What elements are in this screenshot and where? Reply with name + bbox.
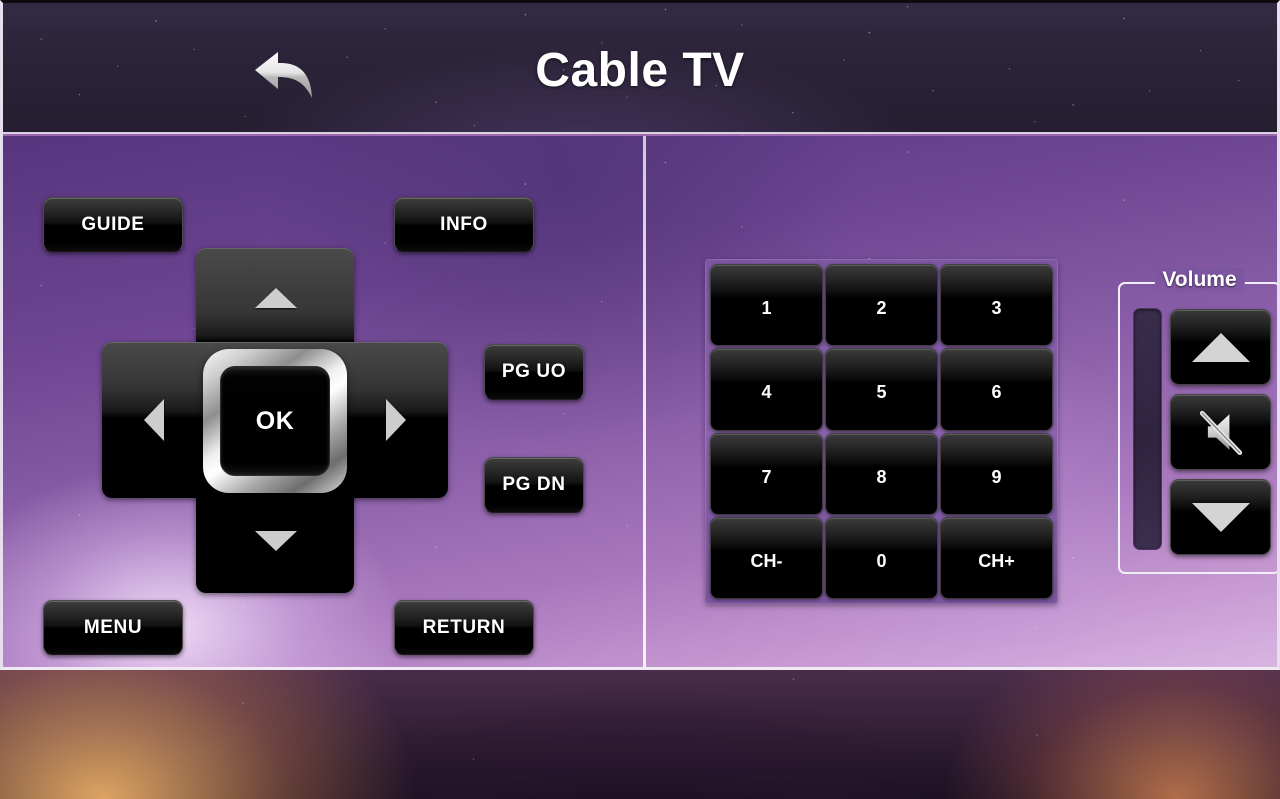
volume-down-icon — [1192, 503, 1250, 532]
keypad-key-6[interactable]: 6 — [940, 348, 1053, 430]
channel-down-button[interactable]: CH- — [710, 517, 823, 599]
menu-button[interactable]: MENU — [43, 600, 183, 655]
numeric-keypad: 1 2 3 4 5 6 7 8 9 CH- 0 CH+ — [705, 259, 1058, 604]
keypad-grid: 1 2 3 4 5 6 7 8 9 CH- 0 CH+ — [710, 264, 1053, 599]
volume-down-button[interactable] — [1170, 479, 1271, 555]
arrow-up-icon[interactable] — [255, 288, 297, 308]
channel-up-button[interactable]: CH+ — [940, 517, 1053, 599]
keypad-key-7[interactable]: 7 — [710, 433, 823, 515]
keypad-key-3[interactable]: 3 — [940, 264, 1053, 346]
keypad-key-1[interactable]: 1 — [710, 264, 823, 346]
page-title: Cable TV — [3, 43, 1277, 98]
volume-mute-button[interactable] — [1170, 394, 1271, 470]
volume-group: Volume — [1118, 282, 1280, 574]
guide-button[interactable]: GUIDE — [43, 197, 183, 252]
info-button[interactable]: INFO — [394, 197, 534, 252]
volume-mute-icon — [1191, 402, 1251, 462]
title-bar: Cable TV — [3, 3, 1277, 134]
keypad-key-0[interactable]: 0 — [825, 517, 938, 599]
volume-up-icon — [1192, 333, 1250, 362]
keypad-key-2[interactable]: 2 — [825, 264, 938, 346]
keypad-key-4[interactable]: 4 — [710, 348, 823, 430]
arrow-left-icon[interactable] — [144, 399, 164, 441]
remote-control-screen: Cable TV GUIDE INFO MENU RETURN PG UO PG… — [0, 0, 1280, 799]
page-down-button[interactable]: PG DN — [484, 457, 584, 513]
ok-button[interactable]: OK — [220, 366, 330, 476]
volume-slider[interactable] — [1133, 308, 1162, 550]
volume-up-button[interactable] — [1170, 309, 1271, 385]
arrow-down-icon[interactable] — [255, 531, 297, 551]
page-up-button[interactable]: PG UO — [484, 344, 584, 400]
keypad-key-9[interactable]: 9 — [940, 433, 1053, 515]
keypad-key-8[interactable]: 8 — [825, 433, 938, 515]
panel-divider — [643, 136, 646, 670]
return-button[interactable]: RETURN — [394, 600, 534, 655]
arrow-right-icon[interactable] — [386, 399, 406, 441]
remote-window: Cable TV GUIDE INFO MENU RETURN PG UO PG… — [0, 0, 1280, 670]
ok-button-ring: OK — [203, 349, 347, 493]
directional-pad: OK — [102, 248, 448, 593]
volume-group-label: Volume — [1154, 268, 1244, 292]
keypad-key-5[interactable]: 5 — [825, 348, 938, 430]
